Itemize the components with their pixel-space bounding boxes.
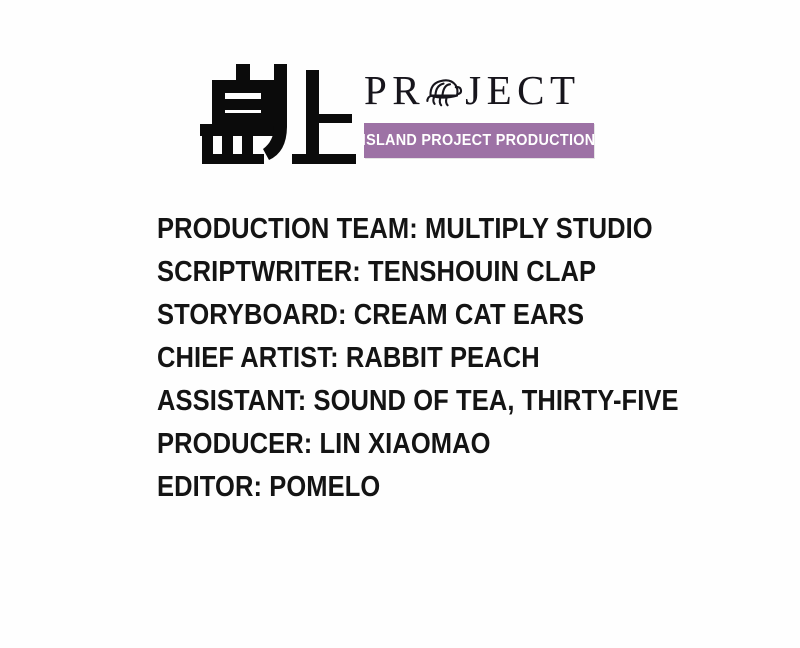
logo-block: PR [196,58,600,168]
credit-line-assistant: ASSISTANT: SOUND OF TEA, THIRTY-FIVE [157,380,650,423]
credit-line-producer: PRODUCER: LIN XIAOMAO [157,423,650,466]
tagline-text: ISLAND PROJECT PRODUCTION [362,132,596,150]
credit-line-editor: EDITOR: POMELO [157,466,650,509]
cjk-logo-island [196,58,356,166]
credit-line-chief-artist: CHIEF ARTIST: RABBIT PEACH [157,337,650,380]
project-wordmark: PR [364,64,600,116]
turtle-icon [425,75,463,109]
tagline-banner: ISLAND PROJECT PRODUCTION [364,123,594,158]
wordmark-column: PR [364,64,600,158]
wordmark-suffix: JECT [465,70,580,111]
credit-line-scriptwriter: SCRIPTWRITER: TENSHOUIN CLAP [157,251,650,294]
credit-line-production-team: PRODUCTION TEAM: MULTIPLY STUDIO [157,208,650,251]
wordmark-prefix: PR [364,70,425,111]
credits-list: PRODUCTION TEAM: MULTIPLY STUDIO SCRIPTW… [157,208,717,509]
credit-line-storyboard: STORYBOARD: CREAM CAT EARS [157,294,650,337]
